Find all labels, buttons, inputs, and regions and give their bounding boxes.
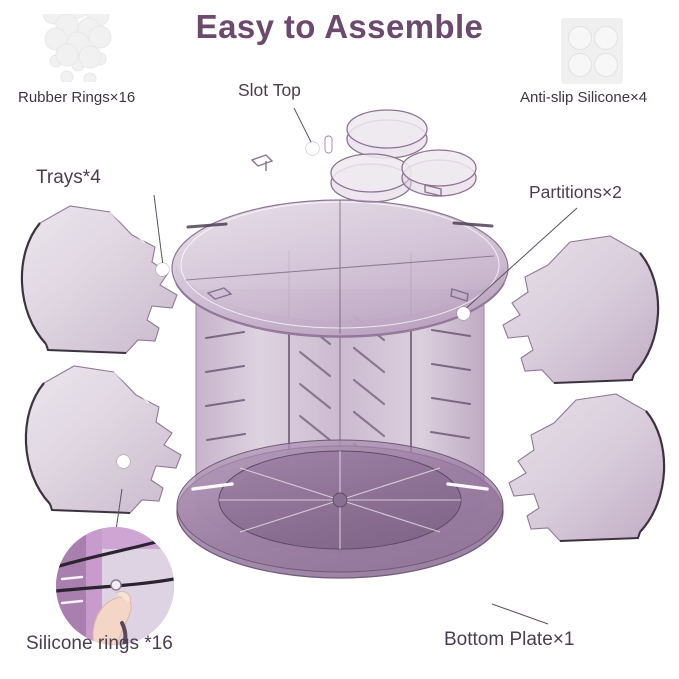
silicone-ring-closeup xyxy=(111,580,121,590)
partition-part-upper-right xyxy=(503,236,658,383)
label-anti-slip-silicone: Anti-slip Silicone×4 xyxy=(520,89,647,106)
tray-part-upper-left xyxy=(22,206,177,353)
label-partitions: Partitions×2 xyxy=(529,182,622,203)
rubber-rings-icon xyxy=(34,14,154,82)
silicone-ring-install-photo xyxy=(56,527,174,645)
pad-3 xyxy=(568,53,592,77)
callout-dot-silicone-rings xyxy=(117,455,130,468)
label-trays: Trays*4 xyxy=(36,167,101,189)
turntable-hub xyxy=(333,493,347,507)
assembly-diagram: Easy to Assemble xyxy=(0,0,679,679)
callout-dot-trays xyxy=(156,263,169,276)
callout-dot-slot-top xyxy=(306,142,319,155)
label-slot-top: Slot Top xyxy=(238,80,301,101)
pad-2 xyxy=(594,26,618,50)
lid-holder-rings xyxy=(331,110,476,202)
silicone-ring-install-art xyxy=(56,527,174,645)
callout-dot-partitions xyxy=(457,307,470,320)
label-rubber-rings: Rubber Rings×16 xyxy=(18,89,135,106)
slot-top-lid xyxy=(172,110,508,337)
bottom-plate xyxy=(177,440,503,578)
pad-4 xyxy=(594,53,618,77)
partition-part-lower-right xyxy=(509,394,664,541)
anti-slip-pads-icon xyxy=(561,18,623,84)
pad-1 xyxy=(568,26,592,50)
tray-part-lower-left xyxy=(26,366,181,513)
label-bottom-plate: Bottom Plate×1 xyxy=(444,629,574,651)
label-silicone-rings: Silicone rings *16 xyxy=(26,633,173,655)
